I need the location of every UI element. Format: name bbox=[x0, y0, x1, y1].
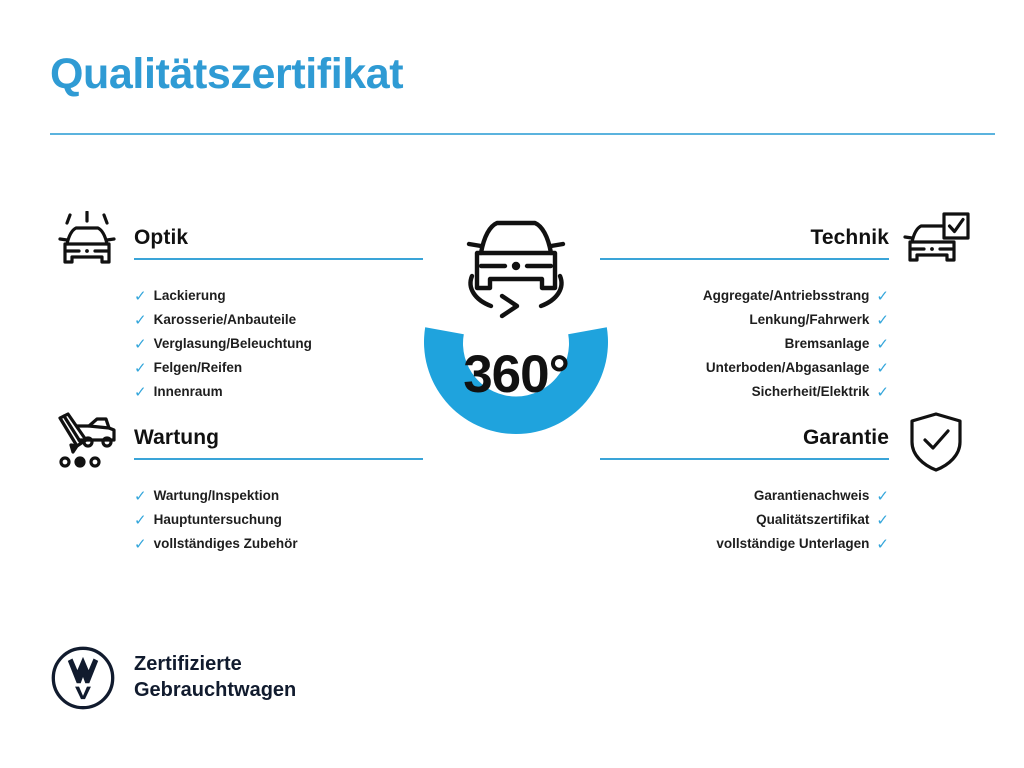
car-front-checkbox-icon bbox=[897, 206, 975, 278]
vw-footer: Zertifizierte Gebrauchtwagen bbox=[50, 645, 296, 711]
pencil-car-service-icon bbox=[48, 406, 126, 478]
list-item-label: Unterboden/Abgasanlage bbox=[706, 361, 870, 375]
360-check-badge: Gebrauchtwagen-Check bbox=[371, 196, 661, 496]
header-divider bbox=[50, 133, 995, 135]
check-icon: ✓ bbox=[876, 489, 889, 504]
car-rotate-icon bbox=[469, 223, 563, 316]
list-item: vollständige Unterlagen ✓ bbox=[600, 532, 889, 556]
list-item-label: Aggregate/Antriebsstrang bbox=[703, 289, 870, 303]
check-icon: ✓ bbox=[876, 361, 889, 376]
list-item: ✓ vollständiges Zubehör bbox=[134, 532, 423, 556]
check-icon: ✓ bbox=[876, 385, 889, 400]
badge-center-label: 360° bbox=[371, 348, 661, 401]
check-icon: ✓ bbox=[876, 289, 889, 304]
check-icon: ✓ bbox=[134, 289, 147, 304]
check-icon: ✓ bbox=[134, 313, 147, 328]
check-icon: ✓ bbox=[876, 537, 889, 552]
section-header: Optik bbox=[48, 206, 423, 282]
list-item-label: Garantienachweis bbox=[754, 489, 870, 503]
list-item-label: Wartung/Inspektion bbox=[154, 489, 280, 503]
list-item-label: Lackierung bbox=[154, 289, 226, 303]
check-icon: ✓ bbox=[876, 337, 889, 352]
car-front-shine-icon bbox=[48, 206, 126, 278]
list-item-label: Sicherheit/Elektrik bbox=[752, 385, 870, 399]
list-item-label: Bremsanlage bbox=[785, 337, 870, 351]
list-item: ✓ Hauptuntersuchung bbox=[134, 508, 423, 532]
list-item: Qualitätszertifikat ✓ bbox=[600, 508, 889, 532]
check-icon: ✓ bbox=[134, 361, 147, 376]
section-header: Wartung bbox=[48, 406, 423, 482]
check-icon: ✓ bbox=[876, 513, 889, 528]
list-item-label: Qualitätszertifikat bbox=[756, 513, 869, 527]
list-item-label: Felgen/Reifen bbox=[154, 361, 243, 375]
check-icon: ✓ bbox=[134, 385, 147, 400]
section-wartung: Wartung ✓ Wartung/Inspektion ✓ Hauptunte… bbox=[48, 406, 423, 482]
shield-check-icon bbox=[897, 406, 975, 478]
vw-logo bbox=[50, 645, 116, 711]
section-optik: Optik ✓ Lackierung ✓ Karosserie/Anbautei… bbox=[48, 206, 423, 282]
certificate-page: Qualitätszertifikat bbox=[0, 0, 1024, 768]
check-icon: ✓ bbox=[876, 313, 889, 328]
list-item-label: Hauptuntersuchung bbox=[154, 513, 282, 527]
check-icon: ✓ bbox=[134, 489, 147, 504]
footer-line-2: Gebrauchtwagen bbox=[134, 678, 296, 704]
check-icon: ✓ bbox=[134, 537, 147, 552]
list-item-label: Karosserie/Anbauteile bbox=[154, 313, 297, 327]
vw-footer-text: Zertifizierte Gebrauchtwagen bbox=[134, 652, 296, 703]
page-title: Qualitätszertifikat bbox=[50, 52, 403, 97]
list-item-label: Lenkung/Fahrwerk bbox=[749, 313, 869, 327]
list-item-label: vollständiges Zubehör bbox=[154, 537, 298, 551]
list-item-label: Innenraum bbox=[154, 385, 223, 399]
check-icon: ✓ bbox=[134, 513, 147, 528]
footer-line-1: Zertifizierte bbox=[134, 652, 296, 678]
check-icon: ✓ bbox=[134, 337, 147, 352]
list-item-label: vollständige Unterlagen bbox=[716, 537, 869, 551]
list-item-label: Verglasung/Beleuchtung bbox=[154, 337, 312, 351]
